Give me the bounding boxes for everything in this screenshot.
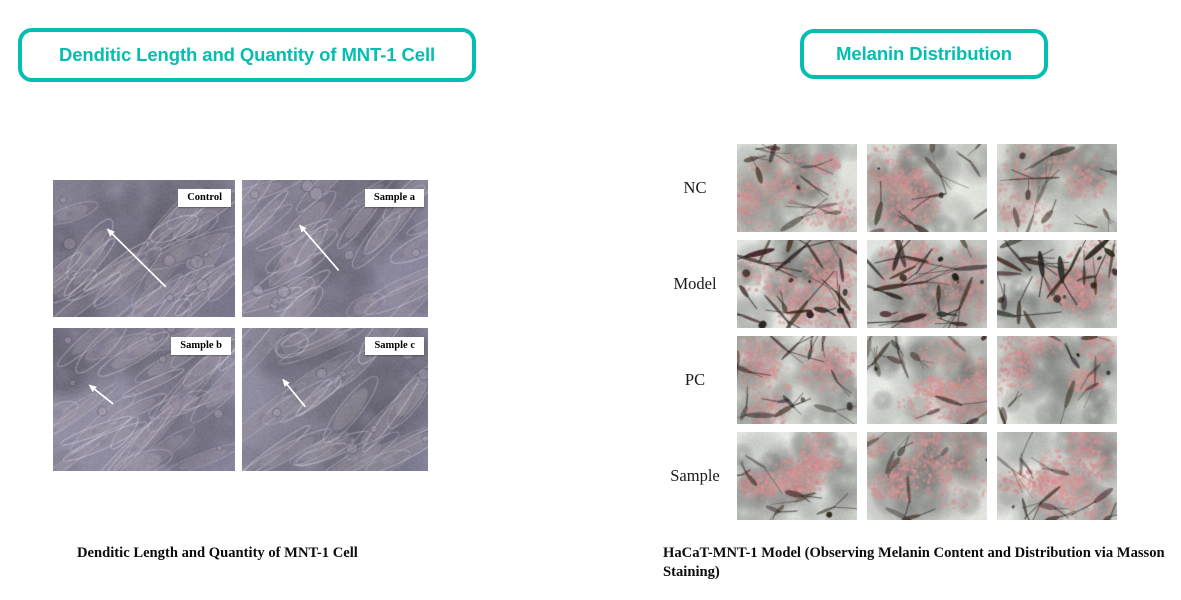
staining-row-sample: Sample — [660, 432, 1120, 520]
micrograph-panel-sample-b: Sample b — [53, 328, 235, 471]
micrograph-panel-sample-a: Sample a — [242, 180, 428, 317]
staining-row-label-sample: Sample — [660, 432, 730, 520]
melanin-figure-caption: HaCaT-MNT-1 Model (Observing Melanin Con… — [663, 544, 1175, 582]
staining-tile — [997, 144, 1117, 232]
micrograph-label-sample-c: Sample c — [365, 337, 424, 355]
staining-row-nc: NC — [660, 144, 1120, 232]
micrograph-panel-sample-c: Sample c — [242, 328, 428, 471]
staining-tile — [867, 432, 987, 520]
dendritic-micrograph-figure: Control Sample a Sample b Sample c — [53, 180, 417, 472]
heading-pill-melanin-label: Melanin Distribution — [836, 43, 1012, 65]
staining-row-model: Model — [660, 240, 1120, 328]
staining-tile — [997, 336, 1117, 424]
staining-tile — [997, 240, 1117, 328]
staining-row-label-nc: NC — [660, 144, 730, 232]
micrograph-panel-control: Control — [53, 180, 235, 317]
staining-tile — [867, 144, 987, 232]
heading-pill-dendritic-label: Denditic Length and Quantity of MNT-1 Ce… — [59, 44, 435, 66]
staining-row-label-pc: PC — [660, 336, 730, 424]
staining-row-pc: PC — [660, 336, 1120, 424]
dendritic-figure-caption: Denditic Length and Quantity of MNT-1 Ce… — [77, 544, 358, 563]
micrograph-label-sample-b: Sample b — [171, 337, 231, 355]
heading-pill-dendritic: Denditic Length and Quantity of MNT-1 Ce… — [18, 28, 476, 82]
staining-tile — [997, 432, 1117, 520]
staining-row-label-model: Model — [660, 240, 730, 328]
staining-tile — [737, 336, 857, 424]
melanin-staining-grid: NC Model PC Sample — [660, 144, 1120, 530]
staining-tile — [867, 240, 987, 328]
micrograph-label-control: Control — [178, 189, 231, 207]
staining-tile — [737, 144, 857, 232]
staining-tile — [737, 432, 857, 520]
micrograph-label-sample-a: Sample a — [365, 189, 424, 207]
staining-tile — [867, 336, 987, 424]
heading-pill-melanin: Melanin Distribution — [800, 29, 1048, 79]
staining-tile — [737, 240, 857, 328]
